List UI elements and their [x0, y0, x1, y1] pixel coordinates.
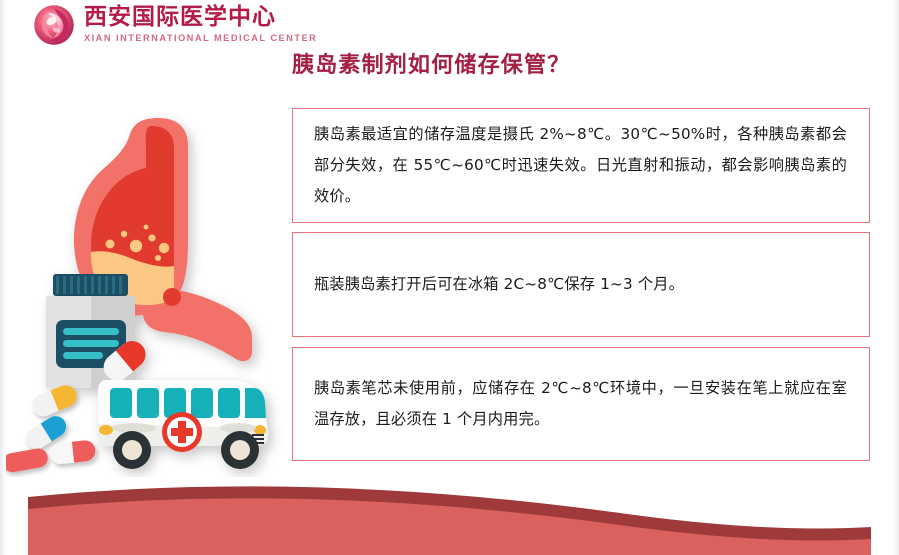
brand-name-cn: 西安国际医学中心	[84, 6, 317, 29]
brand-name-en: XIAN INTERNATIONAL MEDICAL CENTER	[84, 34, 317, 43]
bottom-wave-banner	[0, 475, 899, 555]
opened-vial-storage-note-text: 瓶装胰岛素打开后可在冰箱 2C~8℃保存 1~3 个月。	[314, 269, 684, 300]
pen-cartridge-storage-note: 胰岛素笔芯未使用前，应储存在 2℃~8℃环境中，一旦安装在笔上就应在室温存放，且…	[292, 347, 870, 461]
right-page-edge	[890, 0, 899, 555]
storage-temperature-note-text: 胰岛素最适宜的储存温度是摄氏 2%~8℃。30℃~50%时，各种胰岛素都会部分失…	[314, 119, 847, 212]
brand-logo: 西安国际医学中心 XIAN INTERNATIONAL MEDICAL CENT…	[33, 4, 317, 46]
storage-temperature-note: 胰岛素最适宜的储存温度是摄氏 2%~8℃。30℃~50%时，各种胰岛素都会部分失…	[292, 108, 870, 223]
phoenix-swirl-logo-icon	[33, 4, 75, 46]
ambulance-icon	[98, 380, 268, 469]
opened-vial-storage-note: 瓶装胰岛素打开后可在冰箱 2C~8℃保存 1~3 个月。	[292, 232, 870, 337]
pen-cartridge-storage-note-text: 胰岛素笔芯未使用前，应储存在 2℃~8℃环境中，一旦安装在笔上就应在室温存放，且…	[314, 373, 847, 435]
page-title: 胰岛素制剂如何储存保管？	[292, 47, 570, 79]
slide-canvas: 西安国际医学中心 XIAN INTERNATIONAL MEDICAL CENT…	[0, 0, 899, 555]
red-cross-icon	[162, 412, 202, 452]
stomach-medicine-ambulance-illustration	[6, 112, 288, 477]
